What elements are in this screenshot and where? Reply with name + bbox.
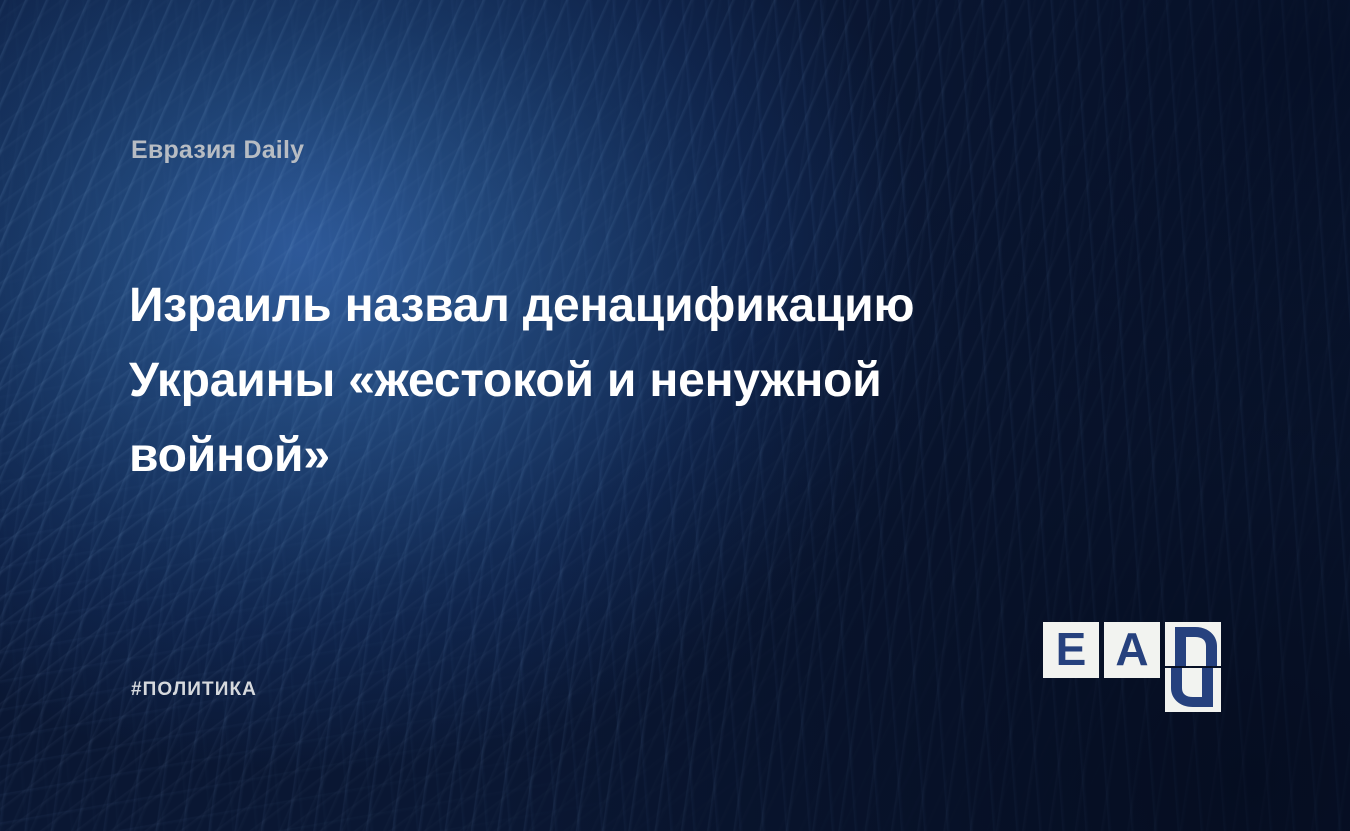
logo-tile-e: E [1043, 622, 1099, 678]
brand-name: Евразия Daily [131, 136, 304, 165]
news-card: Евразия Daily Израиль назвал денацификац… [0, 0, 1350, 831]
card-content: Евразия Daily Израиль назвал денацификац… [0, 0, 1350, 831]
headline: Израиль назвал денацификацию Украины «же… [129, 268, 1029, 493]
logo-tile-d: EADaily [1165, 622, 1221, 712]
category-hashtag: #ПОЛИТИКА [131, 679, 257, 701]
logo-d-lower-half [1165, 668, 1221, 712]
eadaily-logo: E A EADaily [1043, 622, 1221, 712]
logo-d-upper-half [1165, 622, 1221, 666]
logo-tile-a: A [1104, 622, 1160, 678]
